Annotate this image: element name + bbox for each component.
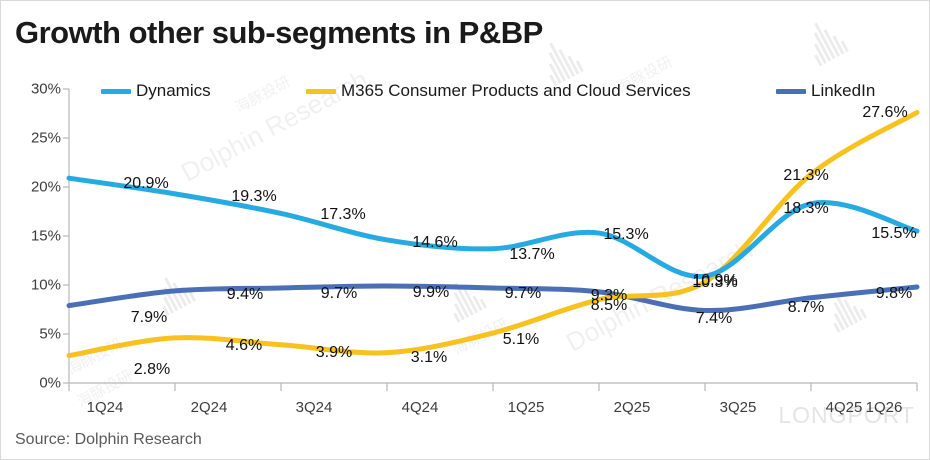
- x-tick-label: 3Q25: [720, 399, 757, 416]
- data-label: 7.9%: [131, 309, 167, 327]
- data-label: 15.3%: [603, 226, 648, 244]
- data-label: 9.4%: [227, 286, 263, 304]
- data-label: 15.5%: [871, 225, 916, 243]
- data-label: 5.1%: [503, 331, 539, 349]
- data-label: 13.7%: [509, 246, 554, 264]
- x-tick-label: 3Q24: [296, 399, 333, 416]
- data-label: 14.6%: [412, 234, 457, 252]
- data-label: 20.9%: [123, 175, 168, 193]
- data-label: 7.4%: [696, 310, 732, 328]
- data-label: 9.7%: [505, 285, 541, 303]
- data-label: 17.3%: [320, 206, 365, 224]
- source-note: Source: Dolphin Research: [15, 431, 202, 449]
- data-label: 9.9%: [413, 284, 449, 302]
- data-label: 9.8%: [876, 285, 912, 303]
- data-label: 10.3%: [692, 274, 737, 292]
- x-tick-label: 4Q25: [826, 399, 863, 416]
- data-label: 21.3%: [783, 167, 828, 185]
- data-label: 18.3%: [783, 200, 828, 218]
- data-label: 2.8%: [134, 361, 170, 379]
- series-line-m365: [69, 113, 917, 356]
- x-tick-label: 1Q24: [87, 399, 124, 416]
- data-label: 3.9%: [316, 344, 352, 362]
- x-tick-label: 2Q24: [191, 399, 228, 416]
- y-tick-marks: [63, 89, 69, 383]
- data-label: 27.6%: [862, 104, 907, 122]
- data-label: 9.3%: [591, 287, 627, 305]
- x-tick-label: 2Q25: [614, 399, 651, 416]
- x-tick-label: 1Q26: [866, 399, 903, 416]
- x-tick-marks: [69, 383, 917, 391]
- data-label: 4.6%: [226, 337, 262, 355]
- plot-area: [1, 1, 930, 460]
- x-tick-label: 4Q24: [402, 399, 439, 416]
- data-label: 9.7%: [321, 285, 357, 303]
- data-label: 3.1%: [411, 349, 447, 367]
- data-label: 19.3%: [231, 188, 276, 206]
- x-tick-label: 1Q25: [508, 399, 545, 416]
- data-label: 8.7%: [788, 299, 824, 317]
- chart-container: Dolphin Research Dolphin Research 海豚投研 海…: [0, 0, 930, 460]
